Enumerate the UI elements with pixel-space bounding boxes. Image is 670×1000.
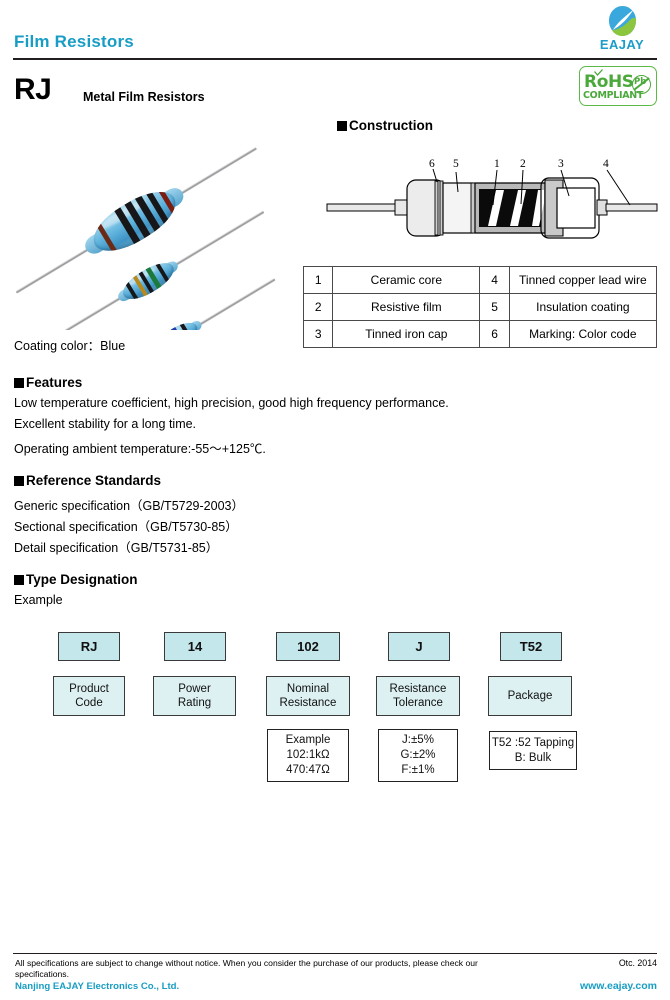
table-row: 2 Resistive film 5 Insulation coating: [304, 294, 657, 321]
code-box-package: T52: [500, 632, 562, 661]
reference-standard-line-2: Sectional specification（GB/T5730-85）: [14, 516, 238, 535]
bullet-square-icon: [337, 121, 347, 131]
detail-box-package-codes: T52 :52 Tapping B: Bulk: [489, 731, 577, 770]
type-designation-heading-text: Type Designation: [26, 572, 138, 587]
legend-text: Tinned iron cap: [333, 321, 480, 348]
rohs-label: RoHS: [584, 74, 634, 90]
code-box-product: RJ: [58, 632, 120, 661]
reference-standards-heading: Reference Standards: [14, 473, 161, 488]
resistor-body: [118, 256, 179, 305]
callout-6: 6: [429, 158, 435, 170]
callout-3: 3: [558, 158, 564, 170]
legend-number: 2: [304, 294, 333, 321]
code-box-power: 14: [164, 632, 226, 661]
detail-box-resistance-example: Example 102:1kΩ 470:47Ω: [267, 729, 349, 782]
code-box-resistance: 102: [276, 632, 340, 661]
footer-revision-date: Otc. 2014: [619, 958, 657, 968]
pb-label: Pb: [634, 77, 646, 87]
callout-1: 1: [494, 158, 500, 170]
product-photo: [14, 112, 296, 330]
bullet-square-icon: [14, 575, 24, 585]
table-row: 3 Tinned iron cap 6 Marking: Color code: [304, 321, 657, 348]
legend-text: Marking: Color code: [509, 321, 656, 348]
callout-4: 4: [603, 158, 609, 170]
resistor-lead: [197, 278, 276, 327]
legend-number: 3: [304, 321, 333, 348]
reference-standard-line-1: Generic specification（GB/T5729-2003）: [14, 495, 244, 514]
construction-heading-text: Construction: [349, 118, 433, 133]
construction-heading: Construction: [337, 118, 433, 133]
coating-color-label: Coating color：Blue: [14, 335, 125, 354]
callout-5: 5: [453, 158, 459, 170]
footer-divider: [13, 953, 657, 954]
page-category-title: Film Resistors: [14, 32, 134, 52]
legend-text: Resistive film: [333, 294, 480, 321]
page-subtitle: Metal Film Resistors: [83, 90, 205, 104]
reference-standards-heading-text: Reference Standards: [26, 473, 161, 488]
footer-company-name: Nanjing EAJAY Electronics Co., Ltd.: [15, 981, 179, 992]
desc-box-product-code: Product Code: [53, 676, 125, 716]
legend-text: Insulation coating: [509, 294, 656, 321]
features-heading: Features: [14, 375, 82, 390]
header-divider: [13, 58, 657, 60]
brand-name: EAJAY: [587, 37, 657, 52]
detail-box-tolerance-codes: J:±5% G:±2% F:±1%: [378, 729, 458, 782]
leaf-logo-icon: [609, 6, 636, 36]
legend-text: Ceramic core: [333, 267, 480, 294]
desc-box-nominal-resistance: Nominal Resistance: [266, 676, 350, 716]
legend-number: 6: [480, 321, 509, 348]
construction-legend-table: 1 Ceramic core 4 Tinned copper lead wire…: [303, 266, 657, 348]
desc-box-power-rating: Power Rating: [153, 676, 236, 716]
features-line-3: Operating ambient temperature:-55～+125℃.: [14, 438, 266, 457]
eajay-logo: EAJAY: [587, 6, 657, 56]
callout-2: 2: [520, 158, 526, 170]
construction-cutaway-svg: [325, 160, 659, 260]
desc-box-package: Package: [488, 676, 572, 716]
type-designation-example-label: Example: [14, 593, 63, 607]
color-band: [179, 322, 193, 330]
bullet-square-icon: [14, 378, 24, 388]
page-title: RJ: [14, 73, 51, 107]
footer-website-link[interactable]: www.eajay.com: [580, 980, 657, 992]
datasheet-page: Film Resistors EAJAY RoHS COMPLIANT Pb R…: [0, 0, 670, 1000]
code-box-tolerance: J: [388, 632, 450, 661]
features-line-2: Excellent stability for a long time.: [14, 417, 196, 431]
resistor-body: [150, 317, 201, 330]
table-row: 1 Ceramic core 4 Tinned copper lead wire: [304, 267, 657, 294]
rohs-compliant-label: COMPLIANT: [583, 90, 643, 101]
features-heading-text: Features: [26, 375, 82, 390]
rohs-compliant-badge: RoHS COMPLIANT Pb: [579, 66, 657, 106]
legend-number: 1: [304, 267, 333, 294]
lead-free-icon: Pb: [632, 75, 651, 94]
features-line-1: Low temperature coefficient, high precis…: [14, 396, 449, 410]
footer-disclaimer: All specifications are subject to change…: [15, 958, 485, 980]
type-designation-heading: Type Designation: [14, 572, 138, 587]
construction-diagram: 6 5 1 2 3 4: [325, 160, 659, 260]
resistor-lead: [178, 147, 257, 196]
legend-text: Tinned copper lead wire: [509, 267, 656, 294]
reference-standard-line-3: Detail specification（GB/T5731-85）: [14, 537, 218, 556]
desc-box-resistance-tolerance: Resistance Tolerance: [376, 676, 460, 716]
bullet-square-icon: [14, 476, 24, 486]
legend-number: 5: [480, 294, 509, 321]
legend-number: 4: [480, 267, 509, 294]
